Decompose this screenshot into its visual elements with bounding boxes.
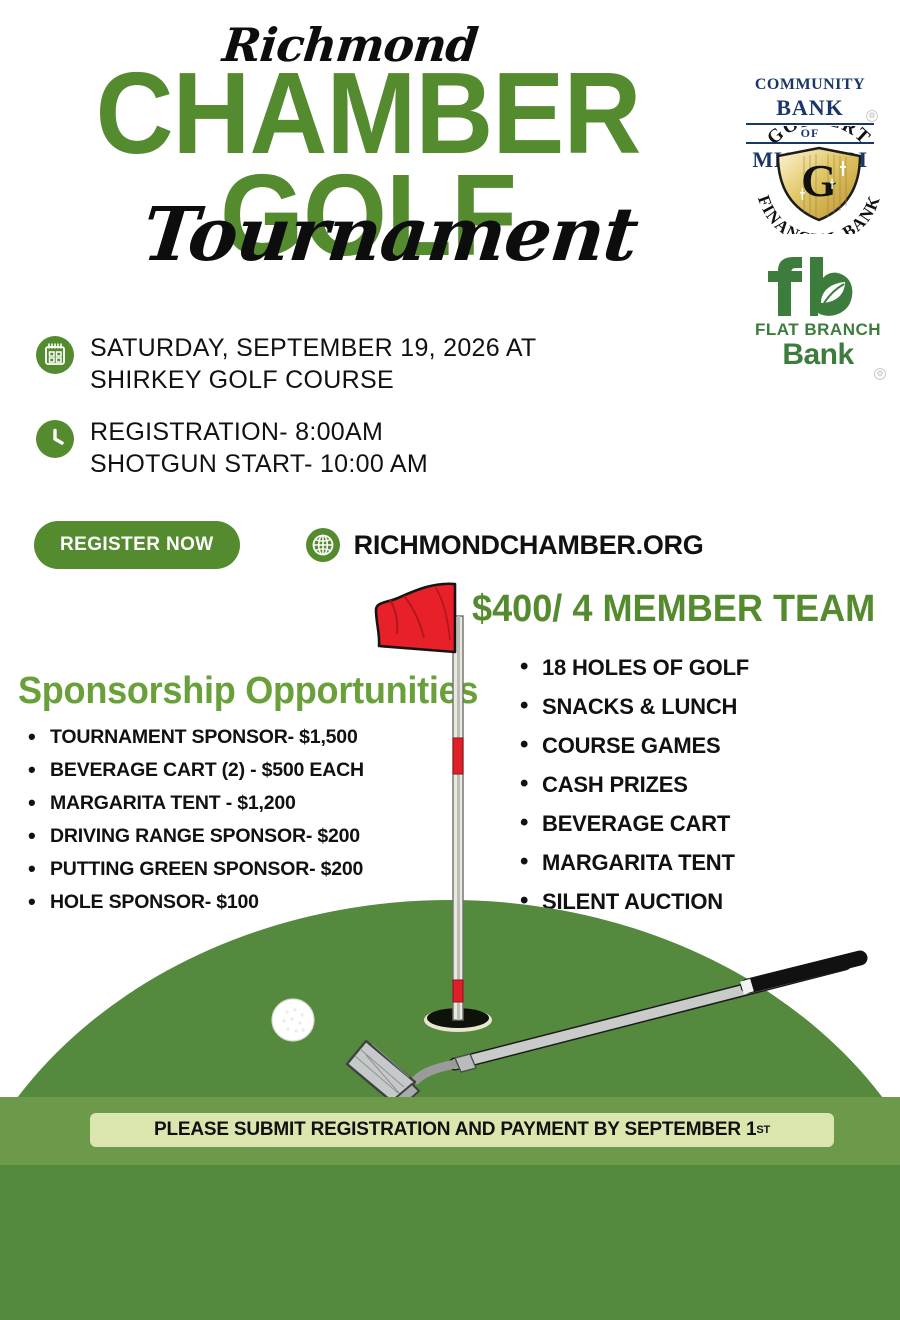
goppert-financial-bank-logo: G GOPPERT FINANCIAL BANK bbox=[744, 126, 894, 234]
globe-icon bbox=[306, 528, 340, 562]
cbm-line-2: BANK bbox=[740, 95, 880, 121]
date-text: SATURDAY, SEPTEMBER 19, 2026 AT SHIRKEY … bbox=[90, 332, 537, 396]
red-flag bbox=[376, 584, 455, 652]
title-script-bottom: Tournament bbox=[35, 192, 744, 278]
svg-text:GOPPERT: GOPPERT bbox=[763, 126, 875, 149]
golf-scene-illustration bbox=[0, 560, 900, 1120]
time-text: REGISTRATION- 8:00AM SHOTGUN START- 10:0… bbox=[90, 416, 428, 480]
website-text[interactable]: RICHMONDCHAMBER.ORG bbox=[354, 530, 704, 561]
cbm-line-1: COMMUNITY bbox=[740, 76, 880, 94]
flag-pole bbox=[453, 616, 463, 1020]
golf-ball bbox=[272, 999, 314, 1041]
time-line-1: REGISTRATION- 8:00AM bbox=[90, 416, 428, 448]
date-line-2: SHIRKEY GOLF COURSE bbox=[90, 364, 537, 396]
fb-line-2: Bank bbox=[744, 338, 892, 372]
fb-monogram-icon bbox=[744, 256, 892, 318]
time-line-2: SHOTGUN START- 10:00 AM bbox=[90, 448, 428, 480]
putter-grip bbox=[748, 958, 860, 986]
flat-branch-bank-logo: FLAT BRANCH Bank bbox=[744, 256, 892, 372]
time-row: REGISTRATION- 8:00AM SHOTGUN START- 10:0… bbox=[36, 416, 716, 480]
cbm-divider-top bbox=[746, 123, 874, 125]
goppert-shield-icon: G GOPPERT FINANCIAL BANK bbox=[744, 126, 894, 234]
date-row: SATURDAY, SEPTEMBER 19, 2026 AT SHIRKEY … bbox=[36, 332, 716, 396]
date-line-1: SATURDAY, SEPTEMBER 19, 2026 AT bbox=[90, 332, 537, 364]
deadline-banner: PLEASE SUBMIT REGISTRATION AND PAYMENT B… bbox=[90, 1113, 834, 1147]
title-block: Richmond CHAMBER GOLF Tournament bbox=[0, 0, 740, 310]
deadline-ordinal: ST bbox=[756, 1124, 770, 1136]
website-row[interactable]: RICHMONDCHAMBER.ORG bbox=[306, 528, 704, 562]
putter-club bbox=[347, 958, 860, 1109]
event-info: SATURDAY, SEPTEMBER 19, 2026 AT SHIRKEY … bbox=[36, 332, 716, 500]
clock-icon bbox=[36, 420, 74, 458]
calendar-icon bbox=[36, 336, 74, 374]
deadline-text: PLEASE SUBMIT REGISTRATION AND PAYMENT B… bbox=[154, 1119, 756, 1141]
watermark-icon: ⚙ bbox=[866, 110, 878, 122]
fb-line-1: FLAT BRANCH bbox=[744, 320, 892, 340]
